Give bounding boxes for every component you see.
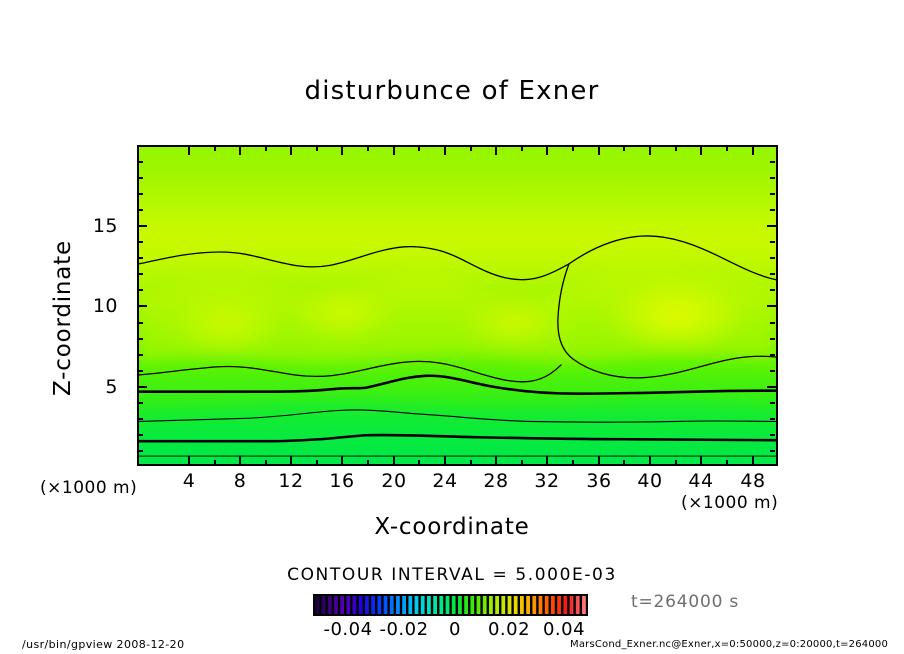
x-tick-label: 12 — [278, 470, 303, 492]
x-unit-left-label: (×1000 m) — [40, 478, 137, 498]
y-tick-label: 10 — [93, 295, 118, 317]
colorbar-tick-label: -0.04 — [323, 619, 372, 640]
x-tick-label: 32 — [534, 470, 559, 492]
x-tick-label: 40 — [637, 470, 662, 492]
colorbar — [313, 594, 588, 616]
contour-field — [139, 147, 776, 464]
colorbar-tick-label: 0.02 — [488, 619, 530, 640]
footer-dataset: MarsCond_Exner.nc@Exner,x=0:50000,z=0:20… — [570, 639, 888, 650]
y-tick-label: 5 — [105, 376, 118, 398]
contour-interval-label: CONTOUR INTERVAL = 5.000E-03 — [0, 565, 904, 585]
x-tick-label: 8 — [234, 470, 247, 492]
time-annotation: t=264000 s — [631, 592, 739, 612]
y-axis-label: Z-coordinate — [50, 203, 76, 433]
x-tick-label: 24 — [432, 470, 457, 492]
page-title: disturbunce of Exner — [0, 76, 904, 106]
x-axis-label: X-coordinate — [0, 514, 904, 540]
x-tick-label: 28 — [483, 470, 508, 492]
colorbar-gradient — [313, 594, 588, 616]
colorbar-tick-labels: -0.04 -0.02 0 0.02 0.04 — [300, 619, 600, 641]
colorbar-tick-label: 0 — [449, 619, 461, 640]
footer-command: /usr/bin/gpview 2008-12-20 — [22, 638, 184, 651]
x-tick-label: 4 — [183, 470, 196, 492]
plot-area: 0.01 0.00 — [137, 145, 778, 466]
x-tick-label: 16 — [329, 470, 354, 492]
x-tick-label: 36 — [586, 470, 611, 492]
x-tick-label: 20 — [381, 470, 406, 492]
x-tick-label: 48 — [740, 470, 765, 492]
x-tick-label: 44 — [688, 470, 713, 492]
y-tick-label: 15 — [93, 215, 118, 237]
colorbar-tick-label: 0.04 — [543, 619, 585, 640]
colorbar-tick-label: -0.02 — [379, 619, 428, 640]
x-unit-right-label: (×1000 m) — [681, 493, 778, 513]
